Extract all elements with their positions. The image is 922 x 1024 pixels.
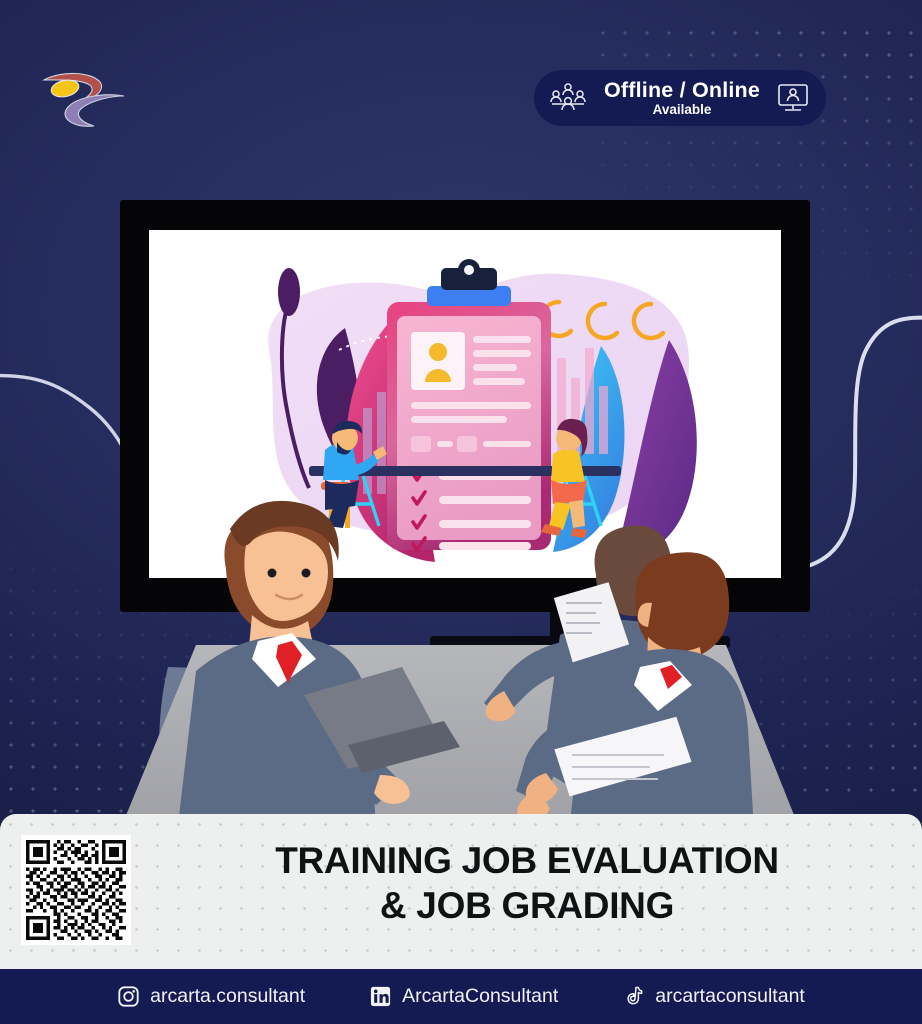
social-item-tiktok[interactable]: arcartaconsultant — [622, 985, 805, 1008]
audience-group — [0, 455, 922, 830]
instagram-icon — [117, 985, 140, 1008]
social-bar: arcarta.consultant ArcartaConsultant arc… — [0, 969, 922, 1024]
social-item-linkedin[interactable]: ArcartaConsultant — [369, 985, 558, 1008]
page-title: TRAINING JOB EVALUATION & JOB GRADING — [160, 838, 894, 928]
instagram-handle: arcarta.consultant — [150, 985, 305, 1008]
linkedin-icon — [369, 985, 392, 1008]
social-item-instagram[interactable]: arcarta.consultant — [117, 985, 305, 1008]
poster-canvas: Offline / Online Available — [0, 0, 922, 1024]
availability-badge[interactable]: Offline / Online Available — [534, 70, 826, 126]
qr-code[interactable] — [21, 835, 131, 945]
people-meeting-icon — [548, 82, 588, 114]
arcarta-logo — [36, 62, 132, 132]
qr-code-graphic — [26, 840, 126, 940]
headline-line-1: TRAINING JOB EVALUATION — [275, 840, 779, 881]
headline-line-2: & JOB GRADING — [160, 883, 894, 928]
linkedin-handle: ArcartaConsultant — [402, 985, 558, 1008]
badge-main-label: Offline / Online — [588, 79, 776, 102]
badge-sub-label: Available — [588, 103, 776, 117]
tiktok-handle: arcartaconsultant — [655, 985, 805, 1008]
monitor-person-icon — [776, 82, 810, 114]
tiktok-icon — [622, 985, 645, 1008]
title-panel: TRAINING JOB EVALUATION & JOB GRADING — [0, 814, 922, 969]
